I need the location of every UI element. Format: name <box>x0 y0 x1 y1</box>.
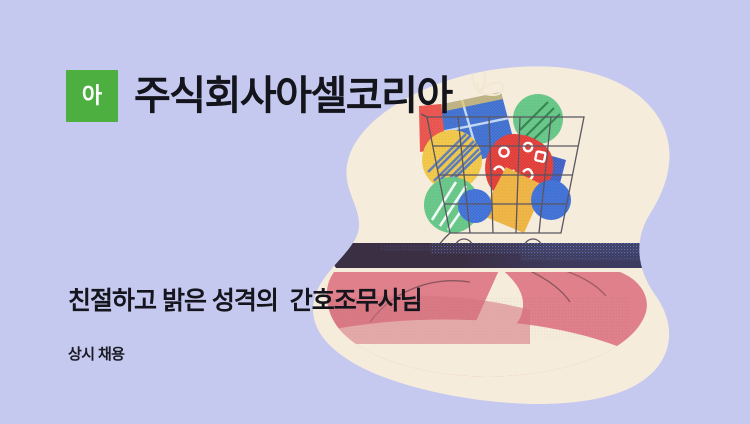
company-name: 주식회사아셀코리아 <box>134 76 452 116</box>
card-blue <box>506 148 566 214</box>
ribbon-bow-icon <box>472 70 503 95</box>
platform-bar <box>325 243 660 268</box>
company-badge-label: 아 <box>82 85 102 107</box>
shopping-cart <box>421 114 584 258</box>
ball-green-top <box>513 94 563 144</box>
subline-text: 상시 채용 <box>68 346 422 364</box>
box-orange <box>481 167 545 233</box>
job-posting-banner: 아 주식회사아셀코리아 친절하고 밝은 성격의 간호조무사님 상시 채용 <box>0 0 750 424</box>
headline-text: 친절하고 밝은 성격의 간호조무사님 <box>68 286 422 316</box>
ball-yellow <box>422 130 484 190</box>
header-row: 아 주식회사아셀코리아 <box>66 70 452 122</box>
ball-green-lower <box>424 177 480 233</box>
company-badge: 아 <box>66 70 118 122</box>
bag-red-squiggle <box>485 134 553 200</box>
recruitment-copy: 친절하고 밝은 성격의 간호조무사님 상시 채용 <box>68 286 422 364</box>
ball-blue-small <box>458 189 492 223</box>
ball-blue <box>531 180 571 220</box>
